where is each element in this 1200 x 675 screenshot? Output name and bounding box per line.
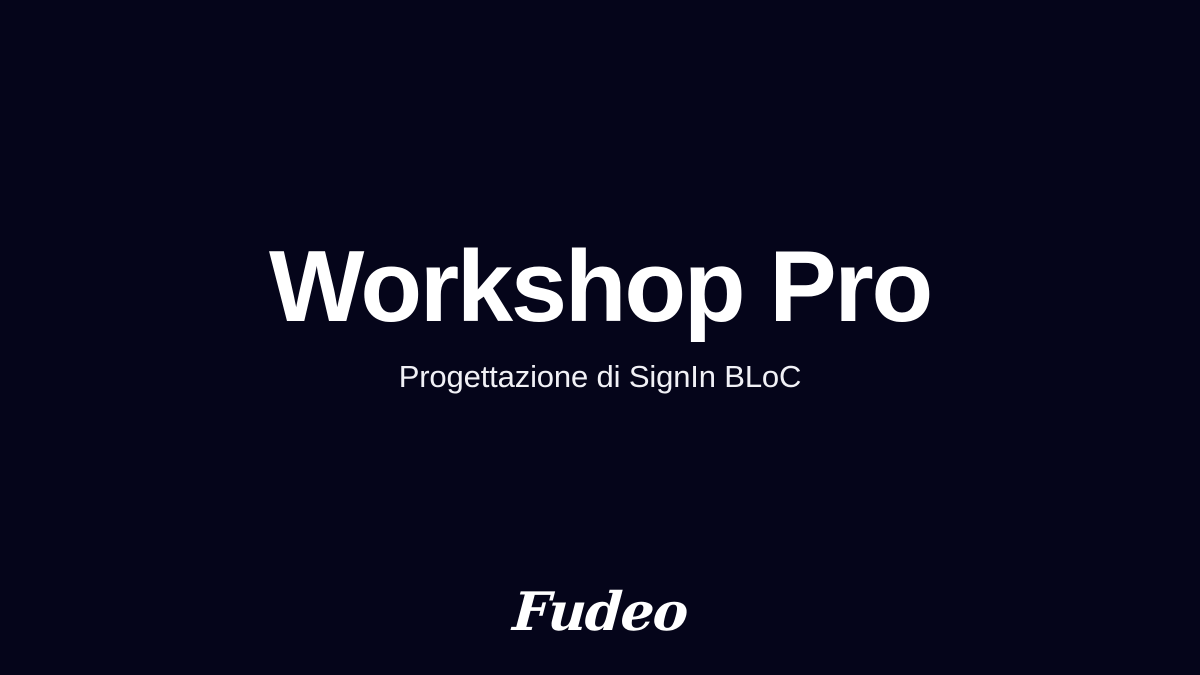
page-title: Workshop Pro xyxy=(269,236,931,339)
title-block: Workshop Pro Progettazione di SignIn BLo… xyxy=(0,0,1200,675)
presentation-slide: Workshop Pro Progettazione di SignIn BLo… xyxy=(0,0,1200,675)
slide-subtitle: Progettazione di SignIn BLoC xyxy=(399,358,802,395)
